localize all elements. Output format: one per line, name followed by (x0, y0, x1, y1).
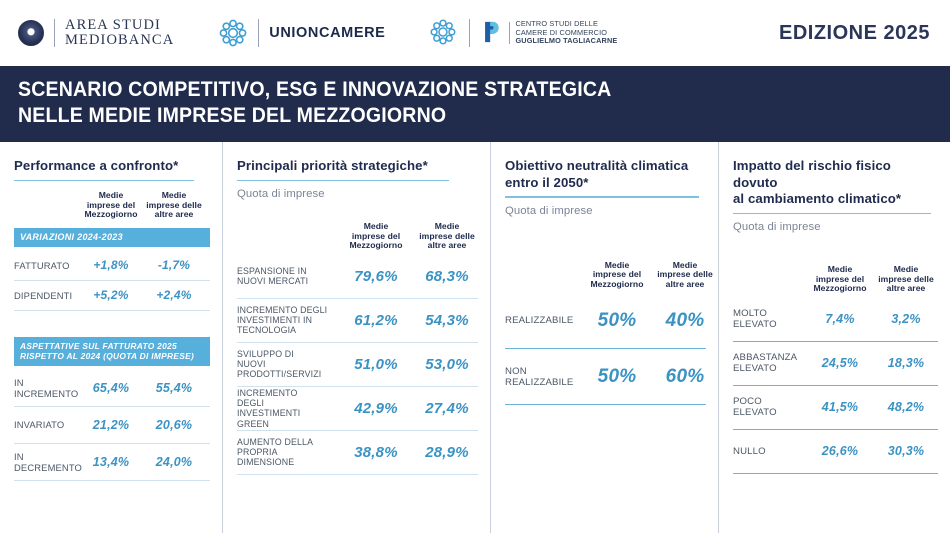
row-value-altre: 18,3% (873, 356, 939, 370)
row-value-mezzogiorno: 51,0% (341, 356, 411, 373)
hdr-l3: Mezzogiorno (583, 280, 651, 290)
row-value-altre: 30,3% (873, 444, 939, 458)
table-aspettative: IN INCREMENTO 65,4% 55,4% INVARIATO 21,2… (14, 370, 210, 481)
header-altre-aree: Medie imprese delle altre aree (651, 261, 719, 290)
header-mezzogiorno: Medie imprese del Mezzogiorno (80, 191, 142, 220)
row-label: IN INCREMENTO (14, 377, 80, 399)
row-value-altre: 54,3% (411, 312, 483, 329)
row-value-mezzogiorno: 26,6% (807, 444, 873, 458)
mediobanca-line2: MEDIOBANCA (65, 33, 174, 48)
header-altre-aree: Medie imprese delle altre aree (142, 191, 206, 220)
logo-bar: AREA STUDI MEDIOBANCA UNIONCAMERE (0, 0, 950, 66)
section-line-1: ASPETTATIVE SUL FATTURATO 2025 (20, 341, 210, 352)
title-line-1: SCENARIO COMPETITIVO, ESG E INNOVAZIONE … (18, 77, 885, 103)
table-row: SVILUPPO DINUOVIPRODOTTI/SERVIZI 51,0% 5… (237, 343, 478, 387)
hdr-l3: altre aree (142, 210, 206, 220)
row-value-altre: 20,6% (142, 418, 206, 432)
table-variazioni: FATTURATO +1,8% -1,7% DIPENDENTI +5,2% +… (14, 251, 210, 311)
row-label: IN DECREMENTO (14, 451, 80, 473)
table-row: POCOELEVATO 41,5% 48,2% (733, 386, 938, 430)
table-row: IN DECREMENTO 13,4% 24,0% (14, 444, 210, 481)
row-value-mezzogiorno: 7,4% (807, 312, 873, 326)
row-value-altre: 28,9% (411, 444, 483, 461)
column-title-priorita: Principali priorità strategiche* (237, 158, 478, 175)
title-underline (237, 180, 449, 182)
row-label: NULLO (733, 446, 807, 457)
header-mezzogiorno: Medie imprese del Mezzogiorno (807, 265, 873, 294)
tagliacarne-wordmark: CENTRO STUDI DELLE CAMERE DI COMMERCIO G… (515, 20, 617, 46)
row-value-altre: 24,0% (142, 455, 206, 469)
table-row: FATTURATO +1,8% -1,7% (14, 251, 210, 281)
table-rischio: MOLTOELEVATO 7,4% 3,2% ABBASTANZAELEVATO… (733, 298, 938, 474)
header-spacer (733, 265, 807, 294)
columns-container: Performance a confronto* Medie imprese d… (0, 142, 950, 533)
column-performance: Performance a confronto* Medie imprese d… (0, 142, 222, 533)
row-value-altre: 60% (651, 366, 719, 388)
hdr-l3: Mezzogiorno (341, 241, 411, 251)
header-mezzogiorno: Medie imprese del Mezzogiorno (341, 222, 411, 251)
divider (54, 19, 55, 47)
table-row: INVARIATO 21,2% 20,6% (14, 407, 210, 444)
row-label: DIPENDENTI (14, 290, 80, 301)
hdr-l3: altre aree (651, 280, 719, 290)
header-spacer (14, 191, 80, 220)
row-label: ABBASTANZAELEVATO (733, 352, 807, 374)
table-row: DIPENDENTI +5,2% +2,4% (14, 281, 210, 311)
row-value-altre: -1,7% (142, 258, 206, 272)
row-value-altre: 68,3% (411, 268, 483, 285)
column-title-neutralita: Obiettivo neutralità climaticaentro il 2… (505, 158, 706, 191)
row-value-mezzogiorno: 24,5% (807, 356, 873, 370)
title-line-2: NELLE MEDIE IMPRESE DEL MEZZOGIORNO (18, 103, 885, 129)
title-underline (505, 196, 699, 198)
header-altre-aree: Medie imprese delle altre aree (411, 222, 483, 251)
table-priorita: ESPANSIONE INNUOVI MERCATI 79,6% 68,3% I… (237, 255, 478, 475)
row-label: REALIZZABILE (505, 315, 583, 326)
table-row: NULLO 26,6% 30,3% (733, 430, 938, 474)
hdr-l3: altre aree (411, 241, 483, 251)
row-value-mezzogiorno: 21,2% (80, 418, 142, 432)
row-label: INVARIATO (14, 419, 80, 430)
infographic-page: AREA STUDI MEDIOBANCA UNIONCAMERE (0, 0, 950, 533)
column-subtitle: Quota di imprese (505, 205, 706, 217)
mediobanca-line1: AREA STUDI (65, 18, 174, 33)
row-value-altre: 53,0% (411, 356, 483, 373)
row-value-mezzogiorno: 42,9% (341, 400, 411, 417)
row-label: AUMENTO DELLAPROPRIADIMENSIONE (237, 437, 341, 468)
unioncamere-flower-icon-2 (429, 18, 459, 48)
table-neutralita: REALIZZABILE 50% 40% NONREALIZZABILE 50%… (505, 293, 706, 405)
header-altre-aree: Medie imprese delle altre aree (873, 265, 939, 294)
edition-label: EDIZIONE 2025 (779, 22, 930, 45)
title-underline (733, 213, 931, 215)
hdr-l3: Mezzogiorno (807, 284, 873, 294)
column-neutralita-climatica: Obiettivo neutralità climaticaentro il 2… (490, 142, 718, 533)
divider (469, 19, 470, 47)
column-headers-priorita: Medie imprese del Mezzogiorno Medie impr… (237, 222, 478, 251)
row-label: NONREALIZZABILE (505, 366, 583, 388)
table-row: ESPANSIONE INNUOVI MERCATI 79,6% 68,3% (237, 255, 478, 299)
table-row: MOLTOELEVATO 7,4% 3,2% (733, 298, 938, 342)
row-value-mezzogiorno: 38,8% (341, 444, 411, 461)
table-row: REALIZZABILE 50% 40% (505, 293, 706, 349)
hdr-l3: Mezzogiorno (80, 210, 142, 220)
column-priorita-strategiche: Principali priorità strategiche* Quota d… (222, 142, 490, 533)
row-value-mezzogiorno: 65,4% (80, 381, 142, 395)
column-rischio-fisico: Impatto del rischio fisico dovutoal camb… (718, 142, 950, 533)
row-value-altre: 55,4% (142, 381, 206, 395)
row-value-mezzogiorno: 13,4% (80, 455, 142, 469)
column-title-rischio: Impatto del rischio fisico dovutoal camb… (733, 158, 938, 208)
row-value-altre: 27,4% (411, 400, 483, 417)
mediobanca-wordmark: AREA STUDI MEDIOBANCA (65, 18, 174, 48)
row-label: INCREMENTODEGLIINVESTIMENTIGREEN (237, 388, 341, 429)
table-row: INCREMENTO DEGLIINVESTIMENTI INTECNOLOGI… (237, 299, 478, 343)
divider (258, 19, 259, 47)
row-value-altre: 3,2% (873, 312, 939, 326)
divider (509, 22, 510, 44)
unioncamere-flower-icon (218, 18, 248, 48)
header-mezzogiorno: Medie imprese del Mezzogiorno (583, 261, 651, 290)
column-title-performance: Performance a confronto* (14, 158, 210, 175)
section-banner-variazioni: VARIAZIONI 2024-2023 (14, 228, 210, 247)
row-value-mezzogiorno: 61,2% (341, 312, 411, 329)
row-value-mezzogiorno: 41,5% (807, 400, 873, 414)
section-banner-aspettative: ASPETTATIVE SUL FATTURATO 2025 RISPETTO … (14, 337, 210, 366)
table-row: AUMENTO DELLAPROPRIADIMENSIONE 38,8% 28,… (237, 431, 478, 475)
row-label: MOLTOELEVATO (733, 308, 807, 330)
row-label: FATTURATO (14, 260, 80, 271)
table-row: ABBASTANZAELEVATO 24,5% 18,3% (733, 342, 938, 386)
row-value-mezzogiorno: 50% (583, 310, 651, 332)
logo-area-studi-mediobanca: AREA STUDI MEDIOBANCA (18, 18, 174, 48)
row-value-mezzogiorno: +5,2% (80, 288, 142, 302)
column-headers-neutralita: Medie imprese del Mezzogiorno Medie impr… (505, 261, 706, 290)
hdr-l3: altre aree (873, 284, 939, 294)
logo-unioncamere: UNIONCAMERE (218, 18, 385, 48)
header-spacer (237, 222, 341, 251)
row-value-mezzogiorno: +1,8% (80, 258, 142, 272)
row-value-mezzogiorno: 50% (583, 366, 651, 388)
header-spacer (505, 261, 583, 290)
column-subtitle: Quota di imprese (237, 188, 478, 200)
logo-centro-studi-tagliacarne: CENTRO STUDI DELLE CAMERE DI COMMERCIO G… (429, 18, 617, 48)
title-banner: SCENARIO COMPETITIVO, ESG E INNOVAZIONE … (0, 66, 950, 142)
row-value-altre: 48,2% (873, 400, 939, 414)
row-label: ESPANSIONE INNUOVI MERCATI (237, 266, 341, 287)
column-headers-rischio: Medie imprese del Mezzogiorno Medie impr… (733, 265, 938, 294)
row-value-mezzogiorno: 79,6% (341, 268, 411, 285)
title-underline (14, 180, 194, 182)
unioncamere-wordmark: UNIONCAMERE (269, 25, 385, 41)
tagliacarne-line3: GUGLIELMO TAGLIACARNE (515, 37, 617, 46)
row-label: POCOELEVATO (733, 396, 807, 418)
section-line-2: RISPETTO AL 2024 (QUOTA DI IMPRESE) (20, 351, 210, 362)
row-label: INCREMENTO DEGLIINVESTIMENTI INTECNOLOGI… (237, 305, 341, 336)
table-row: INCREMENTODEGLIINVESTIMENTIGREEN 42,9% 2… (237, 387, 478, 431)
row-label: SVILUPPO DINUOVIPRODOTTI/SERVIZI (237, 349, 341, 380)
column-headers-performance: Medie imprese del Mezzogiorno Medie impr… (14, 191, 210, 220)
row-value-altre: 40% (651, 310, 719, 332)
mediobanca-seal-icon (18, 20, 44, 46)
table-row: NONREALIZZABILE 50% 60% (505, 349, 706, 405)
tagliacarne-glyph-icon (480, 18, 506, 48)
column-subtitle: Quota di imprese (733, 221, 938, 233)
row-value-altre: +2,4% (142, 288, 206, 302)
table-row: IN INCREMENTO 65,4% 55,4% (14, 370, 210, 407)
